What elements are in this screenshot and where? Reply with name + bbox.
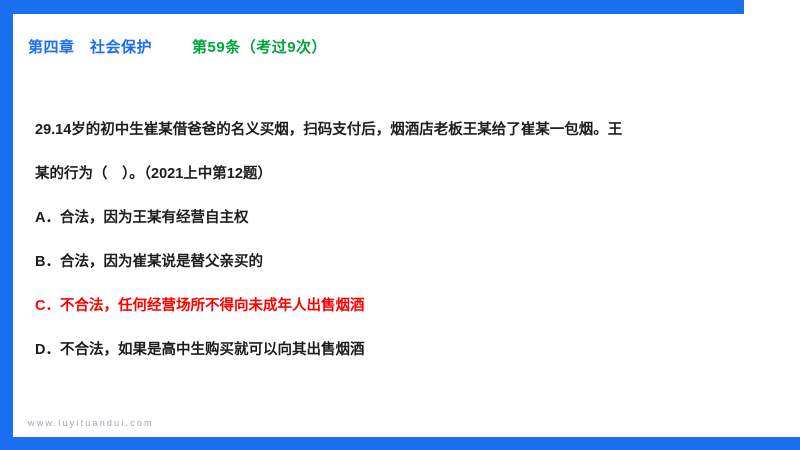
article-title: 第59条（考过9次） xyxy=(192,36,327,57)
slide-header: 第四章 社会保护 第59条（考过9次） xyxy=(28,36,327,57)
question-stem-line-1: 29.14岁的初中生崔某借爸爸的名义买烟，扫码支付后，烟酒店老板王某给了崔某一包… xyxy=(35,108,765,152)
option-d-label: D． xyxy=(35,328,60,372)
question-block: 29.14岁的初中生崔某借爸爸的名义买烟，扫码支付后，烟酒店老板王某给了崔某一包… xyxy=(35,108,765,372)
left-decorative-strip xyxy=(0,0,13,450)
question-stem-line-2: 某的行为（ ）。（2021上中第12题） xyxy=(35,152,765,196)
chapter-title: 第四章 社会保护 xyxy=(28,36,152,57)
footer-watermark-url: www.luyituandui.com xyxy=(28,418,154,428)
option-c-text: 不合法，任何经营场所不得向未成年人出售烟酒 xyxy=(60,298,365,314)
option-c-label: C． xyxy=(35,284,60,328)
option-b-text: 合法，因为崔某说是替父亲买的 xyxy=(60,254,263,270)
option-a[interactable]: A．合法，因为王某有经营自主权 xyxy=(35,196,765,240)
option-d-text: 不合法，如果是高中生购买就可以向其出售烟酒 xyxy=(60,342,365,358)
top-decorative-bar xyxy=(0,0,744,14)
bottom-decorative-bar xyxy=(0,437,800,450)
option-b-label: B． xyxy=(35,240,60,284)
option-a-label: A． xyxy=(35,196,60,240)
option-b[interactable]: B．合法，因为崔某说是替父亲买的 xyxy=(35,240,765,284)
option-c[interactable]: C．不合法，任何经营场所不得向未成年人出售烟酒 xyxy=(35,284,765,328)
option-a-text: 合法，因为王某有经营自主权 xyxy=(60,210,249,226)
option-d[interactable]: D．不合法，如果是高中生购买就可以向其出售烟酒 xyxy=(35,328,765,372)
